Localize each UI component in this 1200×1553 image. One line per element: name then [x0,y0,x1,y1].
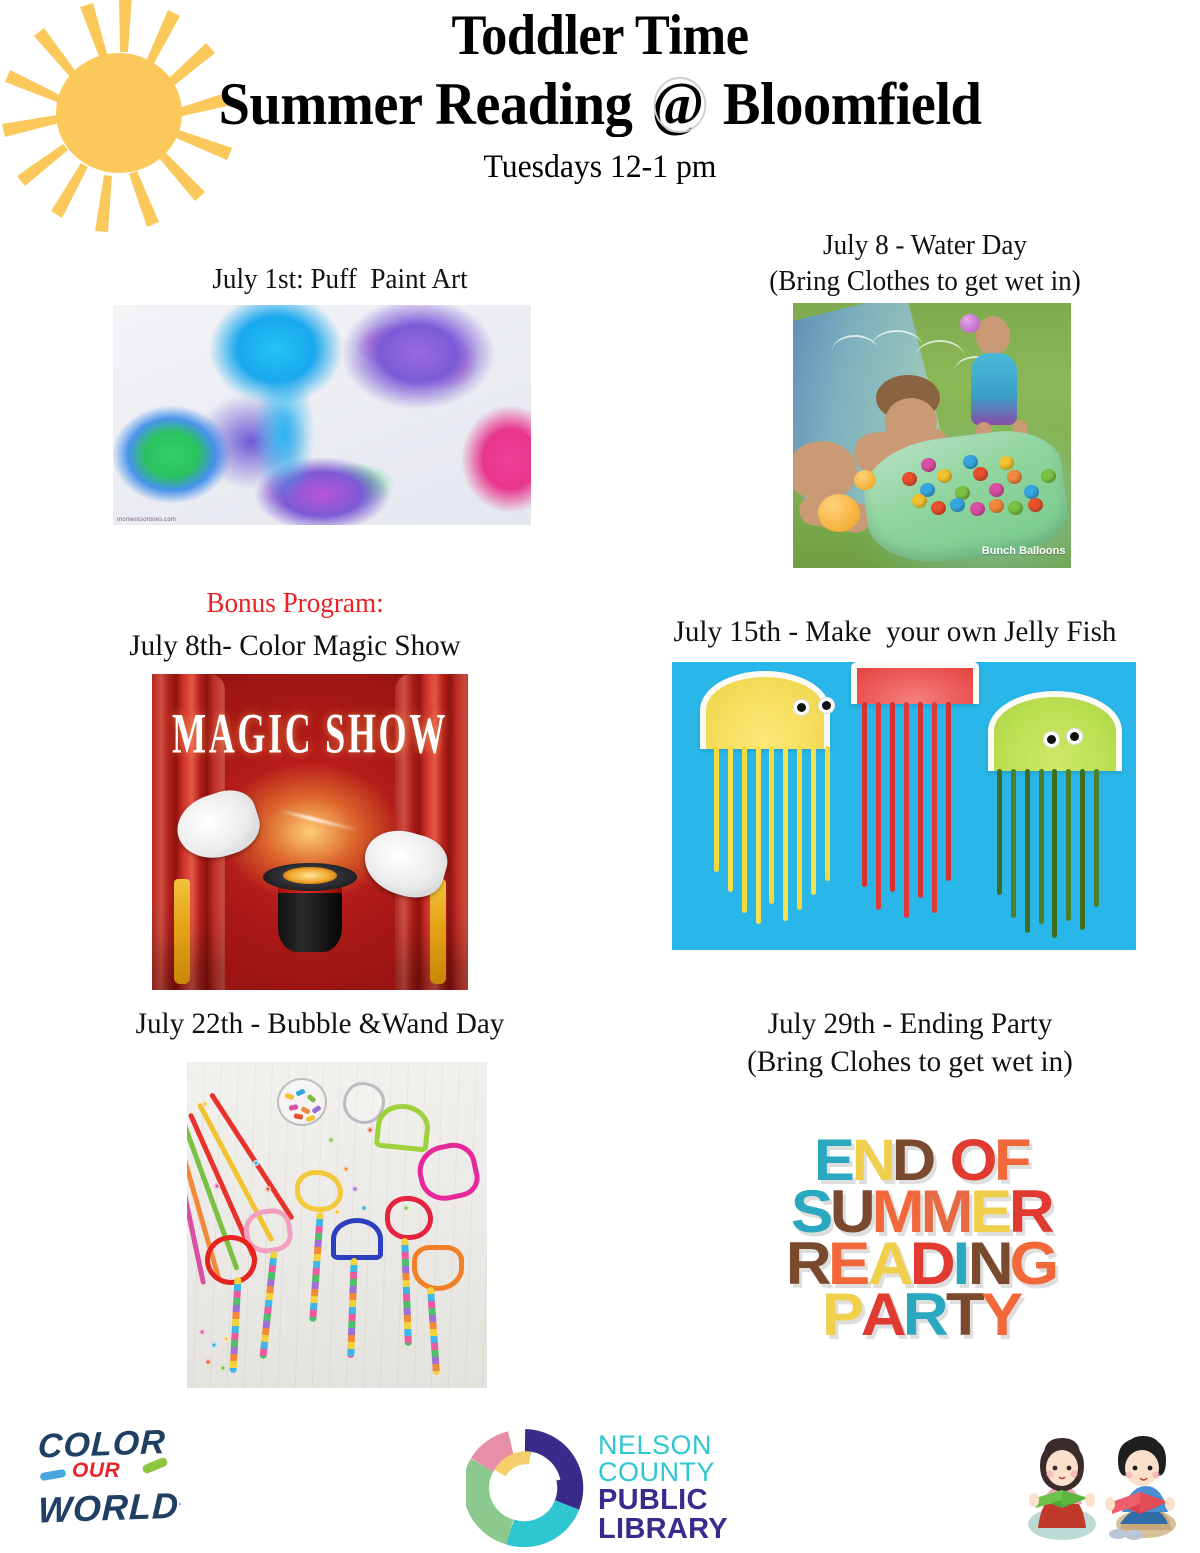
magic-show-title: MAGIC SHOW [171,699,449,766]
jellyfish-tentacle [714,746,719,873]
library-line1: NELSON [598,1432,728,1459]
jellyfish-tentacle [876,702,881,909]
curtain-tassel-right [430,879,446,983]
title-post: Bloomfield [709,71,981,137]
cow-line1: COLOR [37,1425,188,1463]
puff-paint-photo: momentsofdoes.com [113,305,531,525]
jellyfish-tentacle [1025,769,1030,933]
googly-eye [818,697,835,714]
flyer-page: Toddler Time Summer Reading @ Bloomfield… [0,0,1200,1553]
caption-magic-show: July 8th- Color Magic Show [67,627,523,665]
library-line3: PUBLIC [598,1486,728,1515]
page-subtitle: Tuesdays 12-1 pm [24,149,1176,186]
jellyfish-tentacle [1011,769,1016,919]
product-logo: Bunch Balloons [982,546,1066,558]
cow-line3: WORLD. [37,1488,188,1528]
bead-jar [277,1078,327,1126]
at-symbol: @ [646,68,709,141]
caption-bubble-wand: July 22th - Bubble &Wand Day [68,1005,572,1043]
color-our-world-logo: COLOR OUR WORLD. [38,1428,188,1540]
top-hat-icon [263,857,358,952]
caption-water-day: July 8 - Water Day (Bring Clothes to get… [707,228,1144,300]
wand-handle [229,1277,241,1373]
jellyfish-tentacle [862,702,867,886]
jellyfish-tentacle [932,702,937,912]
word-art-letter: A [861,1289,906,1341]
word-art-letter: T [945,1289,983,1341]
jellyfish-tentacle [997,769,1002,896]
jellyfish-tentacle [825,746,830,881]
curtain-tassel-left [174,879,190,983]
page-title-line1: Toddler Time [48,4,1152,68]
jellyfish-tentacle [797,746,802,910]
cow-trademark: . [179,1496,183,1506]
jellyfish-tentacle [1052,769,1057,939]
title-pre: Summer Reading [219,71,646,137]
jellyfish-tentacle [890,702,895,892]
caption-jelly-fish: July 15th - Make your own Jelly Fish [609,613,1181,651]
googly-eye [793,699,810,716]
wand-loop-flower-yellow [295,1170,343,1212]
jellyfish-tentacle [918,702,923,898]
water-day-photo: Bunch Balloons [793,303,1071,568]
library-ring-icon [466,1429,584,1547]
caption-bonus-program: Bonus Program: [67,586,523,622]
wand-handle [309,1212,324,1322]
wand-loop-flower-red [385,1196,433,1240]
sparkle-beam [279,809,359,832]
jellyfish-tentacle [783,746,788,922]
orange-balloon [854,470,876,490]
cow-line3-text: WORLD [37,1484,180,1530]
jellyfish-tentacle [811,746,816,896]
caption-puff-paint: July 1st: Puff Paint Art [127,262,554,298]
page-title-line2: Summer Reading @ Bloomfield [36,68,1164,141]
library-line4: LIBRARY [598,1515,728,1544]
cow-middle-row: OUR [38,1461,188,1483]
jellyfish-tentacle [1066,769,1071,922]
magic-show-poster: MAGIC SHOW [152,674,468,990]
kids-reading-illustration [1014,1428,1184,1544]
blue-dash-icon [40,1468,67,1480]
jellyfish-tentacle [728,746,733,893]
jellyfish-tentacle [1080,769,1085,930]
jellyfish-tentacle [742,746,747,913]
jellyfish-tentacle [1094,769,1099,907]
wand-loop-heart-blue [331,1218,383,1260]
jellyfish-tentacle [946,702,951,881]
jellyfish-tentacle [1039,769,1044,925]
cow-our: OUR [72,1459,120,1483]
jellyfish-plate-yellow [700,671,830,749]
purple-balloon [960,314,980,333]
word-art-letter: P [822,1289,863,1341]
wand-loop-circle-red [205,1235,257,1285]
jellyfish-tentacle [756,746,761,925]
child-figure [971,353,1017,425]
nelson-county-public-library-logo: NELSON COUNTY PUBLIC LIBRARY [466,1424,756,1552]
water-balloons [899,451,1060,531]
wand-loop-tulip-orange [412,1245,464,1291]
word-art-letter: Y [981,1289,1022,1341]
jellyfish-tentacle [904,702,909,918]
orange-balloon [818,494,860,532]
wand-handle [347,1258,357,1358]
photo-watermark: momentsofdoes.com [117,517,176,523]
caption-ending-party: July 29th - Ending Party (Bring Clohes t… [658,1005,1162,1082]
wand-handle [259,1251,277,1359]
jellyfish-tentacle [769,746,774,904]
end-of-summer-party-graphic: ENDOF SUMMER READING PARTY [722,1096,1122,1381]
word-art-letter: R [903,1289,948,1341]
library-wordmark: NELSON COUNTY PUBLIC LIBRARY [598,1432,728,1544]
wand-handle [427,1287,440,1375]
jellyfish-plate-red [851,662,979,704]
jellyfish-craft-photo [672,662,1136,950]
word-art-row: PARTY [823,1289,1021,1341]
bubble-wand-photo [187,1062,487,1388]
flyer-header: Toddler Time Summer Reading @ Bloomfield… [0,4,1200,186]
library-line2: COUNTY [598,1459,728,1486]
child-figure [976,316,1010,356]
wand-handle [401,1238,412,1346]
